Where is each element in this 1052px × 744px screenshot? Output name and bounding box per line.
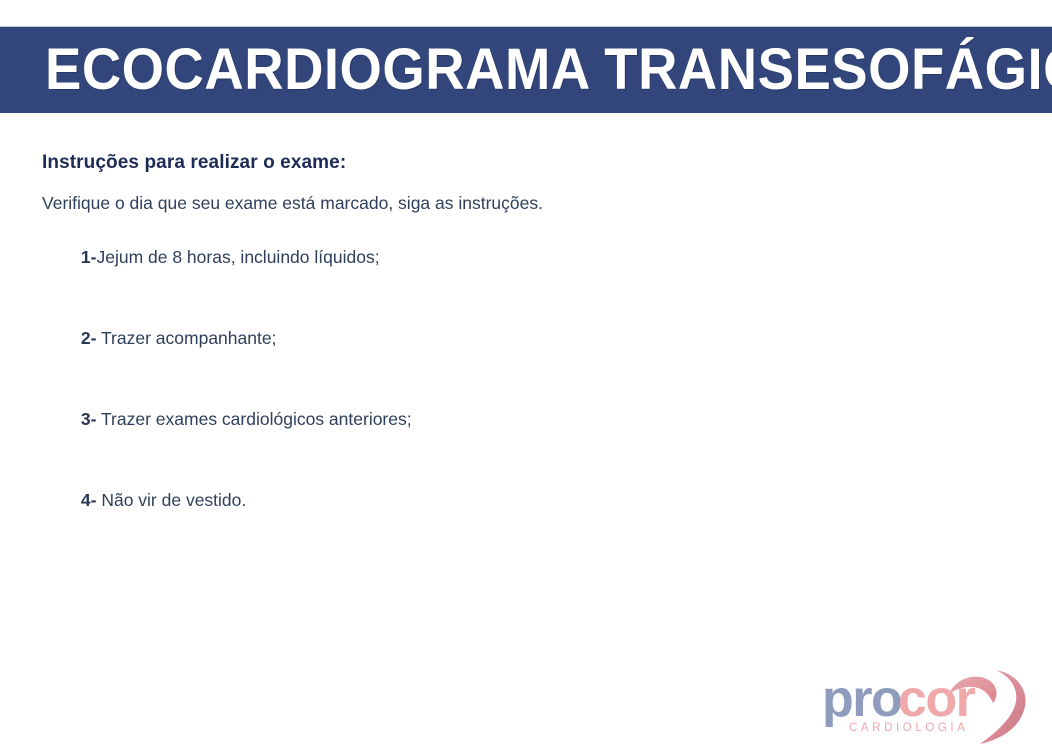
list-item: 2- Trazer acompanhante; [42, 298, 1002, 379]
list-item-marker: 3- [81, 409, 97, 429]
section-heading: Instruções para realizar o exame: [42, 150, 1002, 176]
list-item: 4- Não vir de vestido. [42, 460, 1002, 541]
page-title: ECOCARDIOGRAMA TRANSESOFÁGICO [45, 41, 1052, 99]
list-item-label: Trazer exames cardiológicos anteriores; [96, 409, 411, 429]
document-page: ECOCARDIOGRAMA TRANSESOFÁGICO Instruções… [0, 0, 1052, 744]
header-banner: ECOCARDIOGRAMA TRANSESOFÁGICO [0, 26, 1052, 113]
list-item-label: Trazer acompanhante; [96, 328, 276, 348]
logo-wordmark-secondary: cor [898, 670, 976, 728]
list-item-marker: 1- [81, 247, 97, 267]
procor-logo: pro cor CARDIOLOGIA [818, 660, 1052, 744]
list-item-label: Jejum de 8 horas, incluindo líquidos; [96, 247, 379, 267]
procor-logo-svg: pro cor CARDIOLOGIA [818, 660, 1052, 744]
logo-tagline: CARDIOLOGIA [849, 722, 968, 734]
instruction-list: Verifique o dia que seu exame está marca… [42, 190, 1002, 541]
logo-wordmark-primary: pro [822, 670, 901, 728]
list-item: 3- Trazer exames cardiológicos anteriore… [42, 379, 1002, 460]
list-item: 1-Jejum de 8 horas, incluindo líquidos; [42, 217, 1002, 298]
list-item-marker: 2- [81, 328, 97, 348]
instructions-section: Instruções para realizar o exame: Verifi… [42, 150, 1002, 541]
list-item-label: Não vir de vestido. [96, 490, 246, 510]
list-item-marker: 4- [81, 490, 97, 510]
instruction-intro: Verifique o dia que seu exame está marca… [42, 190, 1002, 217]
